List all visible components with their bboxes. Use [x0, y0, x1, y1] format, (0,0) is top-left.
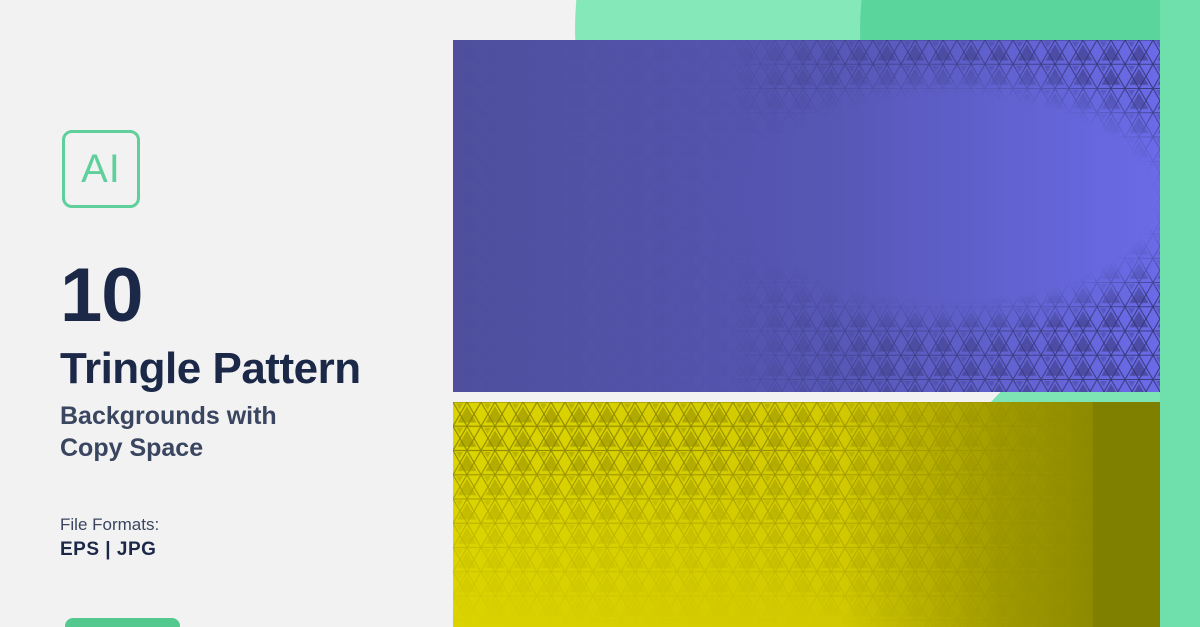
yellow-pattern-svg — [453, 402, 1160, 627]
page-title: Tringle Pattern — [60, 347, 361, 391]
file-formats-value: EPS | JPG — [60, 540, 156, 559]
cta-button[interactable] — [65, 618, 180, 627]
ai-format-badge: AI — [62, 130, 140, 208]
poster-canvas: AI 10 Tringle Pattern Backgrounds with C… — [0, 0, 1200, 627]
info-column: AI 10 Tringle Pattern Backgrounds with C… — [0, 0, 453, 627]
preview-panel-yellow[interactable] — [453, 402, 1160, 627]
file-formats-label: File Formats: — [60, 516, 159, 533]
ai-badge-label: AI — [81, 149, 121, 189]
decor-green-band — [1160, 0, 1200, 627]
headline-subtitle-line-2: Copy Space — [60, 432, 390, 464]
preview-panel-purple[interactable] — [453, 40, 1160, 392]
purple-pattern-svg — [453, 40, 1160, 392]
headline-subtitle: Backgrounds with Copy Space — [60, 400, 390, 464]
headline-subtitle-line-1: Backgrounds with — [60, 400, 390, 432]
headline-count: 10 — [60, 258, 143, 334]
